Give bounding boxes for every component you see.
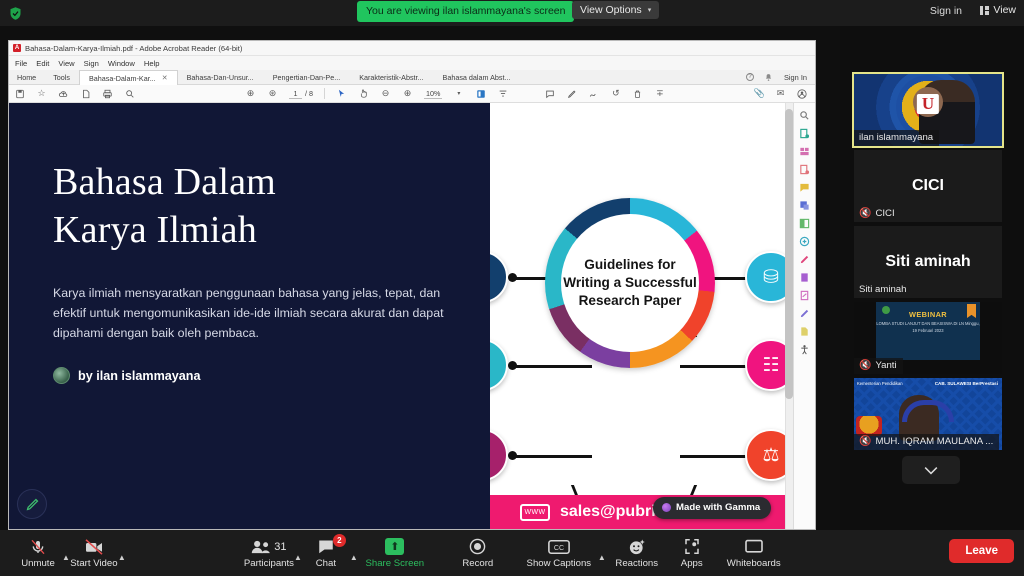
page-current-input[interactable]: 1 (289, 89, 302, 99)
infographic-node[interactable]: ⚑ (490, 251, 508, 303)
connector-dot (508, 361, 517, 370)
chat-caret-icon[interactable]: ▲ (350, 553, 358, 562)
apps-icon (683, 538, 701, 556)
participant-name-label: CICI (875, 208, 894, 219)
captions-caret-icon[interactable]: ▲ (598, 553, 606, 562)
participant-name-label: Yanti (875, 360, 896, 371)
zoom-in-icon[interactable]: ⊕ (402, 88, 413, 99)
tab-document-1[interactable]: Bahasa-Dalam-Kar... ✕ (79, 70, 178, 85)
acrobat-sign-in[interactable]: Sign In (784, 73, 807, 82)
website-icon: WWW (520, 504, 550, 521)
zoom-top-bar: You are viewing ilan islammayana's scree… (0, 0, 1024, 26)
svg-text:CC: CC (554, 545, 564, 552)
tab-document-5[interactable]: Bahasa dalam Abst... (434, 70, 521, 84)
grid-icon (980, 6, 989, 15)
connector-dot (508, 451, 517, 460)
pdf-scrollbar-thumb[interactable] (785, 109, 793, 399)
slide-title-line-1: Bahasa Dalam (53, 159, 456, 207)
infographic-center-text: Guidelines for Writing a Successful Rese… (561, 256, 699, 310)
webinar-subtitle: LOMBA STUDI LANJUT DAN BEASISWA DI LN Mi… (876, 321, 980, 335)
share-screen-label: Share Screen (365, 558, 424, 569)
participant-name-label: Siti aminah (859, 284, 906, 295)
book-icon: ⛁ (763, 266, 779, 289)
menu-help[interactable]: Help (144, 59, 160, 68)
menu-sign[interactable]: Sign (84, 59, 99, 68)
acrobat-tools-rail (793, 103, 815, 529)
page-down-icon[interactable]: ⊛ (267, 88, 278, 99)
connector-dot (508, 273, 517, 282)
slide-title: Bahasa Dalam Karya Ilmiah (53, 159, 456, 255)
page-tool-icon[interactable] (799, 325, 811, 337)
zoom-out-icon[interactable]: ⊖ (380, 88, 391, 99)
organize-pages-icon[interactable] (799, 199, 811, 211)
reactions-button[interactable]: Reactions (606, 530, 668, 576)
zoom-level-value[interactable]: 10% (424, 89, 442, 99)
mic-off-icon: 🔇 (859, 209, 871, 219)
acrobat-toolbar: ☆ ⊕ ⊛ 1 / 8 (9, 85, 815, 103)
print-icon[interactable] (102, 88, 113, 99)
show-captions-label: Show Captions (527, 558, 592, 569)
upload-cloud-icon[interactable] (58, 88, 69, 99)
attachment-icon[interactable]: 📎 (754, 88, 765, 99)
participant-name-ilan: ilan islammayana (854, 130, 939, 146)
tab-document-5-label: Bahasa dalam Abst... (443, 73, 511, 82)
tab-home[interactable]: Home (9, 70, 45, 84)
annotate-pencil-button[interactable] (17, 489, 47, 519)
unmute-button[interactable]: Unmute (14, 530, 62, 576)
help-icon[interactable]: ? (746, 73, 754, 81)
tab-home-label: Home (17, 73, 36, 82)
page-indicator: 1 / 8 (289, 89, 313, 99)
slide-body-text: Karya ilmiah mensyaratkan penggunaan bah… (53, 283, 453, 344)
leave-button[interactable]: Leave (949, 539, 1014, 563)
chevron-down-icon (924, 466, 938, 475)
menu-file[interactable]: File (15, 59, 27, 68)
webinar-title: WEBINAR (876, 310, 980, 319)
scroll-mode-icon[interactable] (497, 88, 508, 99)
connector-line (514, 455, 592, 458)
toolbar-divider (324, 88, 325, 99)
select-cursor-icon[interactable] (336, 88, 347, 99)
stamp-tool-icon[interactable] (799, 307, 811, 319)
account-icon[interactable] (796, 88, 807, 99)
compress-pdf-icon[interactable] (799, 217, 811, 229)
acrobat-window-title: Bahasa-Dalam-Karya-Ilmiah.pdf - Adobe Ac… (25, 44, 242, 53)
read-aloud-icon[interactable]: ∓ (654, 88, 665, 99)
slide-byline-label: by ilan islammayana (78, 369, 201, 383)
acrobat-tabstrip-right: ? Sign In (746, 70, 815, 84)
zoom-dropdown-caret-icon[interactable]: ▾ (453, 88, 464, 99)
apps-button[interactable]: Apps (668, 530, 716, 576)
tab-document-2-label: Bahasa-Dan-Unsur... (187, 73, 254, 82)
participants-icon: 31 (251, 538, 286, 556)
highlight-pen-icon[interactable] (566, 88, 577, 99)
tab-tools[interactable]: Tools (45, 70, 79, 84)
participants-label: Participants (244, 558, 294, 569)
show-captions-button[interactable]: CC Show Captions (520, 530, 598, 576)
participants-count: 31 (274, 541, 286, 553)
record-icon (469, 538, 486, 556)
participant-name-label: ilan islammayana (859, 132, 933, 143)
infographic-donut-ring: Guidelines for Writing a Successful Rese… (545, 198, 715, 368)
slide-infographic-panel: ⚑ ✎ ❦ ▤ ⛁ ☷ (490, 103, 793, 529)
whiteboards-button[interactable]: Whiteboards (716, 530, 792, 576)
search-icon[interactable] (124, 88, 135, 99)
tab-document-3[interactable]: Pengertian-Dan-Pe... (264, 70, 351, 84)
delete-icon[interactable] (632, 88, 643, 99)
page-total-label: / 8 (305, 89, 313, 98)
close-icon[interactable]: ✕ (162, 74, 168, 82)
captions-icon: CC (548, 538, 570, 556)
participant-name-siti: Siti aminah (854, 282, 912, 298)
request-signature-icon[interactable] (799, 289, 811, 301)
view-options-button[interactable]: View Options ▾ (572, 1, 659, 19)
participants-video-panel: U ilan islammayana CICI 🔇 CICI Siti amin… (840, 26, 1024, 530)
slide-title-panel: Bahasa Dalam Karya Ilmiah Karya ilmiah m… (9, 103, 490, 529)
tab-document-4[interactable]: Karakteristik-Abstr... (350, 70, 433, 84)
chat-label: Chat (316, 558, 336, 569)
star-icon[interactable]: ☆ (36, 88, 47, 99)
participant-tile-ilan[interactable]: U ilan islammayana (854, 74, 1002, 146)
comment-icon[interactable] (544, 88, 555, 99)
video-off-icon (84, 538, 104, 556)
apps-label: Apps (681, 558, 703, 569)
participant-name-cici: 🔇 CICI (854, 206, 901, 222)
tab-document-3-label: Pengertian-Dan-Pe... (273, 73, 341, 82)
fill-sign-icon[interactable] (799, 253, 811, 265)
participant-tile-yanti[interactable]: WEBINAR LOMBA STUDI LANJUT DAN BEASISWA … (854, 302, 1002, 374)
page-fit-icon[interactable] (475, 88, 486, 99)
signature-icon[interactable] (588, 88, 599, 99)
bell-icon[interactable] (763, 71, 775, 83)
menu-edit[interactable]: Edit (36, 59, 49, 68)
start-video-button[interactable]: Start Video (70, 530, 118, 576)
tab-document-1-label: Bahasa-Dalam-Kar... (89, 74, 156, 83)
file-lock-icon[interactable] (80, 88, 91, 99)
menu-window[interactable]: Window (108, 59, 135, 68)
zoom-bottom-toolbar: Unmute ▲ Start Video ▲ 31 Participants ▲… (0, 530, 1024, 576)
participant-initials-siti: Siti aminah (885, 253, 970, 271)
whiteboards-label: Whiteboards (727, 558, 781, 569)
audio-options-caret-icon[interactable]: ▲ (62, 553, 70, 562)
view-layout-label: View (993, 4, 1016, 16)
logo-letter-u: U (917, 94, 939, 114)
flag-icon: ⚑ (490, 266, 491, 289)
save-icon[interactable] (14, 88, 25, 99)
pencil-icon (25, 497, 40, 512)
unmute-label: Unmute (21, 558, 55, 569)
chevron-down-icon: ▾ (648, 6, 652, 14)
stamp-icon: ⚖ (762, 444, 779, 467)
video-options-caret-icon[interactable]: ▲ (118, 553, 126, 562)
hand-tool-icon[interactable] (358, 88, 369, 99)
screen-root: You are viewing ilan islammayana's scree… (0, 0, 1024, 576)
infographic-node[interactable]: ❦ (490, 429, 508, 481)
combine-files-icon[interactable] (799, 145, 811, 157)
participant-name-label: MUH. IQRAM MAULANA ... (875, 436, 993, 447)
mail-icon[interactable]: ✉ (775, 88, 786, 99)
sign-in-link[interactable]: Sign in (930, 5, 962, 17)
gamma-logo-icon (662, 503, 671, 512)
chart-icon: ☷ (762, 354, 779, 377)
pdf-page: Bahasa Dalam Karya Ilmiah Karya ilmiah m… (9, 103, 793, 529)
share-screen-icon: ⬆ (385, 538, 404, 556)
share-screen-button[interactable]: ⬆ Share Screen (358, 530, 432, 576)
acrobat-reader-window: A Bahasa-Dalam-Karya-Ilmiah.pdf - Adobe … (8, 40, 816, 530)
edit-pdf-icon[interactable] (799, 271, 811, 283)
mic-off-icon: 🔇 (859, 361, 871, 371)
chat-unread-badge: 2 (333, 534, 346, 547)
tab-document-2[interactable]: Bahasa-Dan-Unsur... (178, 70, 264, 84)
slide-title-line-2: Karya Ilmiah (53, 207, 456, 255)
slide-byline: by ilan islammayana (53, 367, 456, 384)
acrobat-tab-strip: Home Tools Bahasa-Dalam-Kar... ✕ Bahasa-… (9, 70, 815, 85)
search-tool-icon[interactable] (799, 109, 811, 121)
participant-name-iqram: 🔇 MUH. IQRAM MAULANA ... (854, 434, 999, 450)
participant-tile-iqram[interactable]: Kementerian Pendidikan CAB. SULAWESI Ber… (854, 378, 1002, 450)
protect-pdf-icon[interactable] (799, 235, 811, 247)
record-label: Record (462, 558, 493, 569)
chat-button[interactable]: 2 Chat (302, 530, 350, 576)
export-pdf-icon[interactable] (799, 163, 811, 175)
stamp-icon[interactable]: ↺ (610, 88, 621, 99)
participant-tile-cici[interactable]: CICI 🔇 CICI (854, 150, 1002, 222)
accessibility-icon[interactable] (799, 343, 811, 355)
emblem-icon (856, 416, 882, 436)
infographic-center: Guidelines for Writing a Successful Rese… (561, 214, 699, 352)
menu-view[interactable]: View (58, 59, 74, 68)
acrobat-toolbar-right: 📎 ✉ (754, 88, 810, 99)
reactions-icon (628, 538, 646, 556)
start-video-label: Start Video (70, 558, 117, 569)
infographic-node[interactable]: ✎ (490, 339, 508, 391)
comment-tool-icon[interactable] (799, 181, 811, 193)
webinar-slide: WEBINAR LOMBA STUDI LANJUT DAN BEASISWA … (876, 302, 980, 360)
scroll-down-button[interactable] (902, 456, 960, 484)
participants-caret-icon[interactable]: ▲ (294, 553, 302, 562)
participant-tile-siti[interactable]: Siti aminah Siti aminah (854, 226, 1002, 298)
create-pdf-icon[interactable] (799, 127, 811, 139)
avatar (53, 367, 70, 384)
mic-off-icon (30, 538, 46, 556)
viewing-screen-banner: You are viewing ilan islammayana's scree… (357, 1, 574, 22)
acrobat-menu-bar: File Edit View Sign Window Help (9, 56, 815, 70)
participant-name-yanti: 🔇 Yanti (854, 358, 903, 374)
view-layout-button[interactable]: View (980, 4, 1016, 16)
participant-initials-cici: CICI (912, 177, 944, 195)
view-options-label: View Options (580, 4, 642, 16)
shield-icon (8, 6, 23, 21)
overlay-right-label: CAB. SULAWESI BerPrestasi (935, 381, 998, 387)
acrobat-document-area: Bahasa Dalam Karya Ilmiah Karya ilmiah m… (9, 103, 815, 529)
overlay-left-label: Kementerian Pendidikan (857, 381, 903, 386)
whiteboard-icon (744, 538, 764, 556)
acrobat-logo-icon: A (13, 44, 21, 52)
made-with-gamma-label: Made with Gamma (676, 502, 760, 513)
tab-document-4-label: Karakteristik-Abstr... (359, 73, 423, 82)
page-up-icon[interactable]: ⊕ (245, 88, 256, 99)
connector-line (514, 365, 592, 368)
reactions-label: Reactions (615, 558, 658, 569)
record-button[interactable]: Record (454, 530, 502, 576)
participants-button[interactable]: 31 Participants (244, 530, 294, 576)
mic-off-icon: 🔇 (859, 437, 871, 447)
tab-tools-label: Tools (53, 73, 70, 82)
made-with-gamma-badge: Made with Gamma (653, 497, 771, 519)
acrobat-title-bar: A Bahasa-Dalam-Karya-Ilmiah.pdf - Adobe … (9, 41, 815, 56)
